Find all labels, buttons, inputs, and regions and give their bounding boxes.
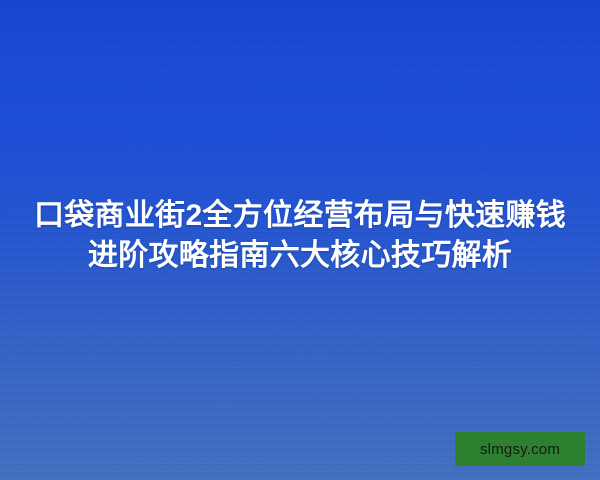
watermark-label: slmgsy.com xyxy=(480,442,560,457)
page-title: 口袋商业街2全方位经营布局与快速赚钱 进阶攻略指南六大核心技巧解析 xyxy=(0,196,600,276)
title-line-2: 进阶攻略指南六大核心技巧解析 xyxy=(20,236,580,276)
article-cover-image: 口袋商业街2全方位经营布局与快速赚钱 进阶攻略指南六大核心技巧解析 slmgsy… xyxy=(0,0,600,480)
title-line-1: 口袋商业街2全方位经营布局与快速赚钱 xyxy=(20,196,580,236)
watermark-badge: slmgsy.com xyxy=(455,432,585,466)
